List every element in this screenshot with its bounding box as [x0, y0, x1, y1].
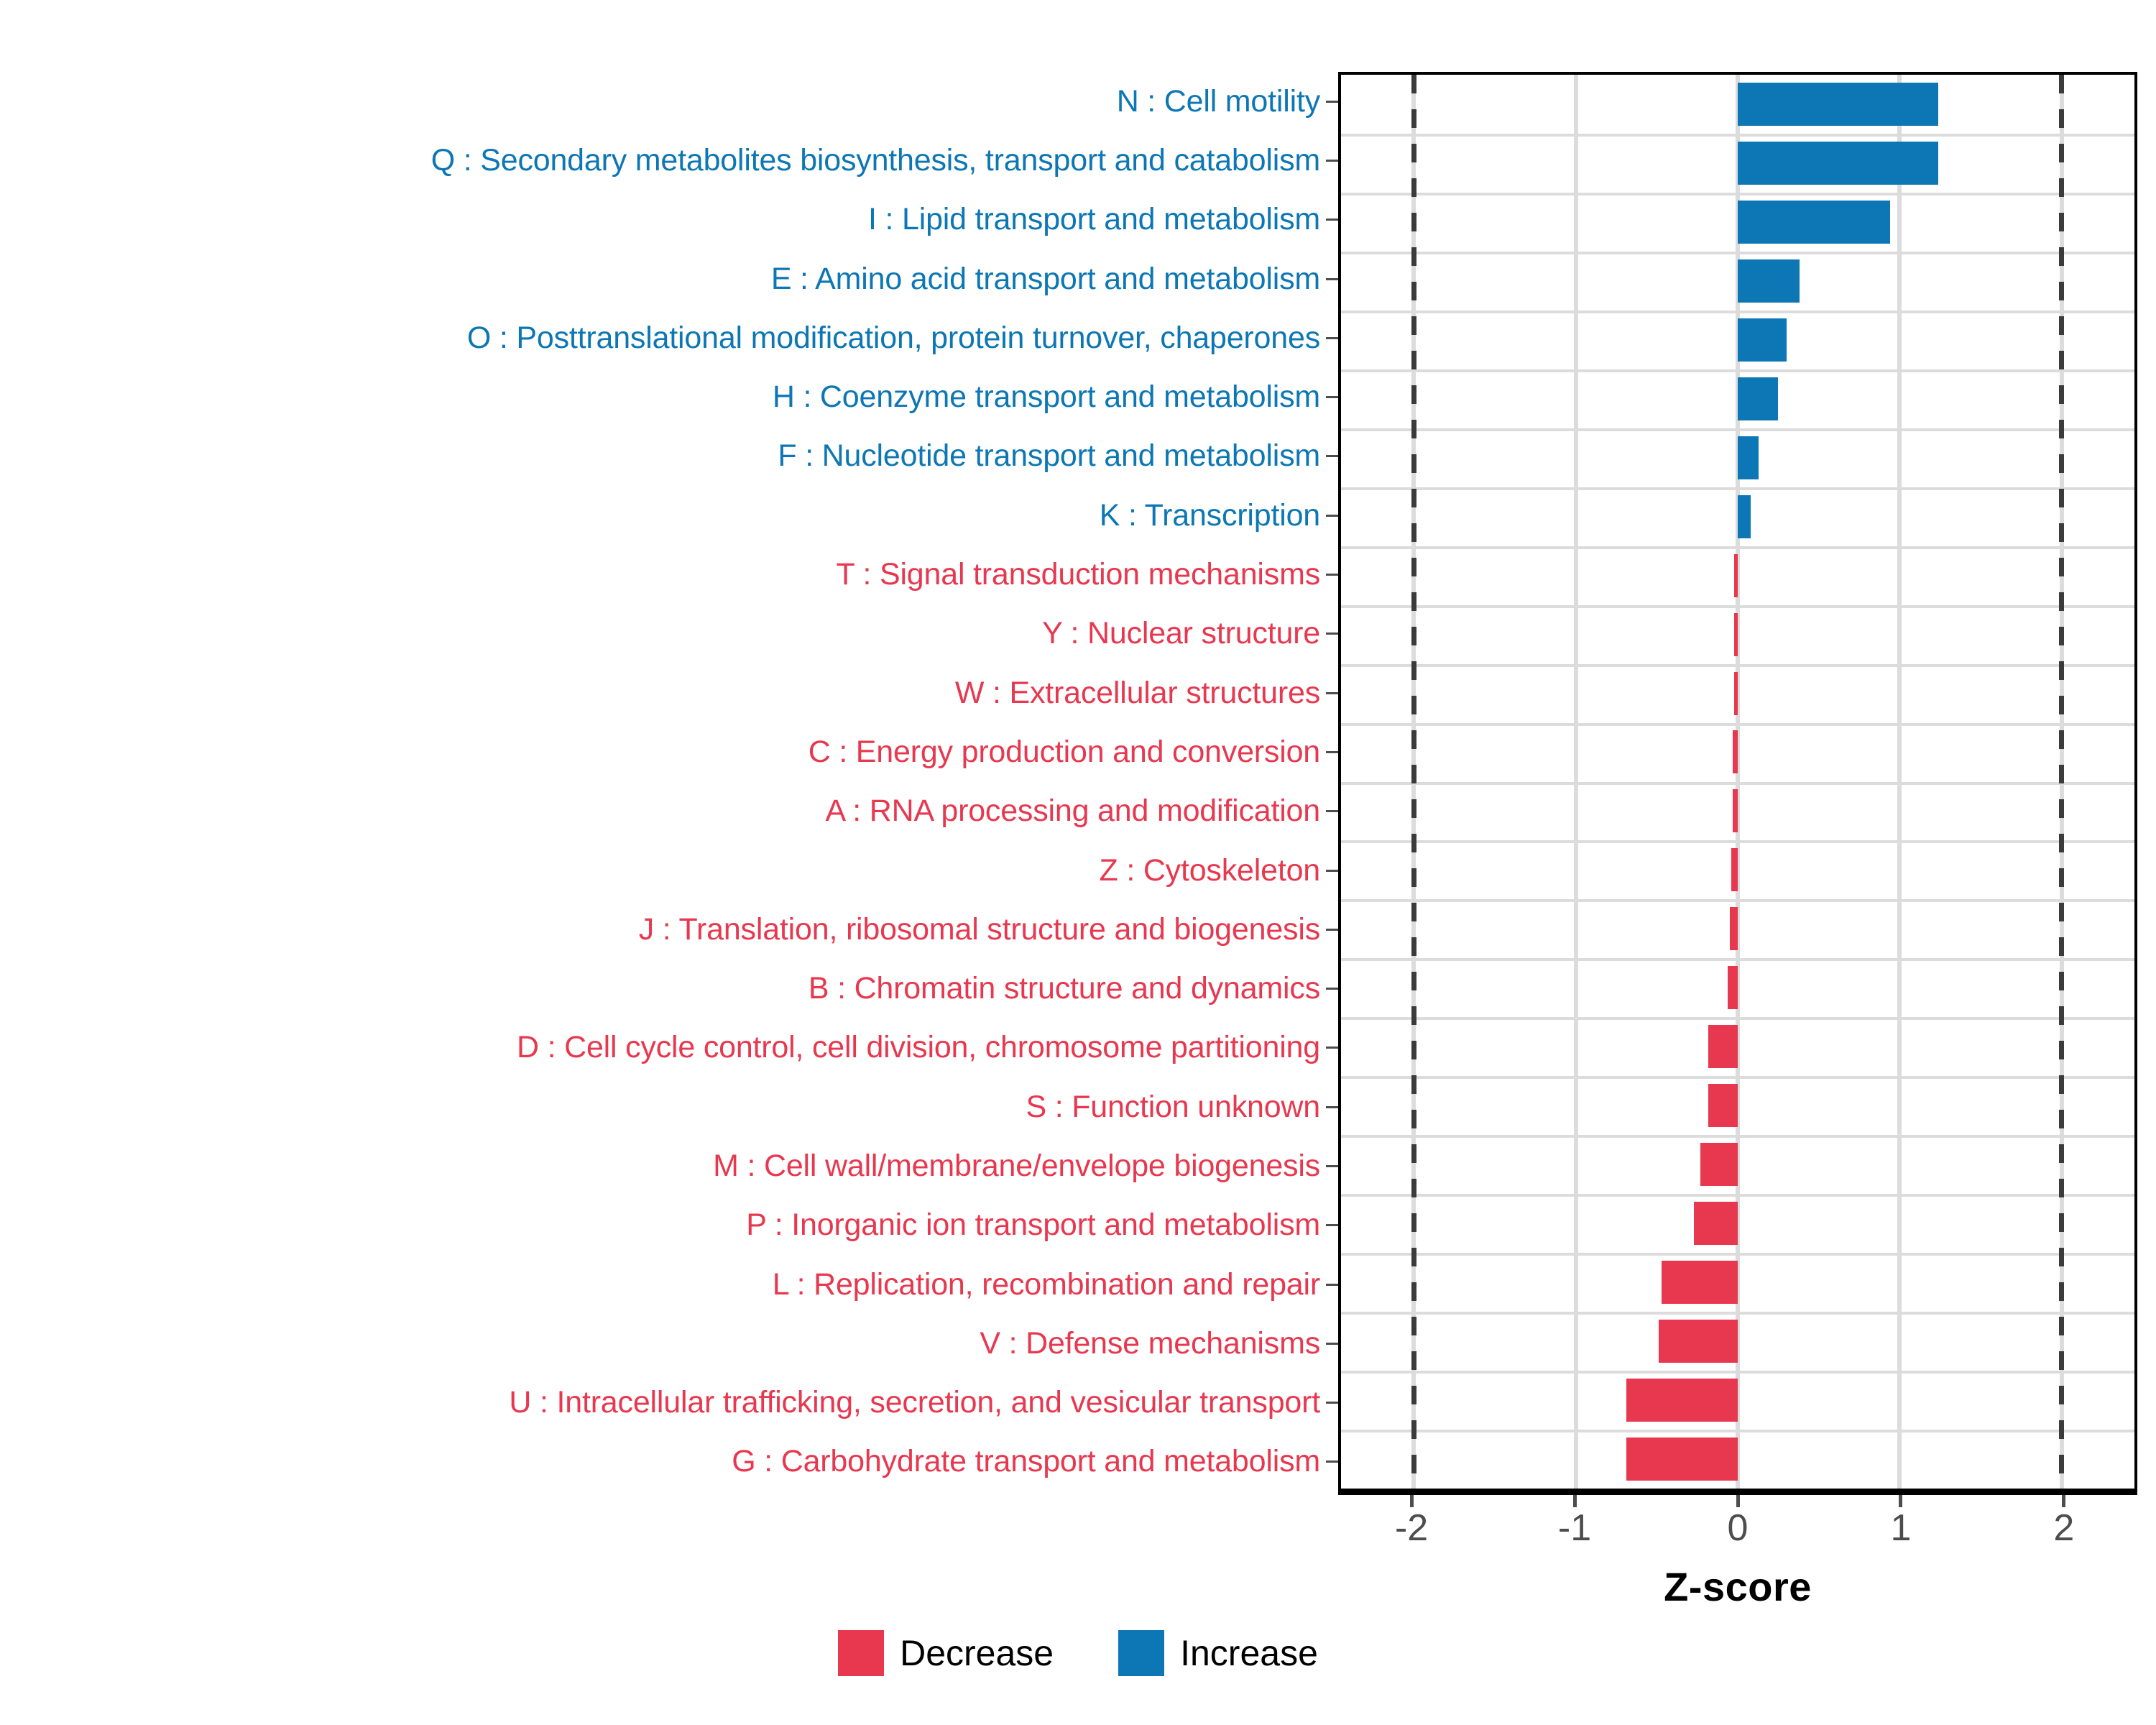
bar-row	[1341, 899, 2134, 958]
x-axis-tick-label: 2	[2053, 1509, 2074, 1547]
category-label-row: L : Replication, recombination and repai…	[0, 1255, 1326, 1314]
category-label-row: G : Carbohydrate transport and metabolis…	[0, 1432, 1326, 1491]
category-label: Z : Cytoskeleton	[1100, 855, 1320, 886]
category-tick-mark	[1326, 396, 1338, 398]
category-tick-row	[1326, 1077, 1338, 1136]
bar-row	[1341, 722, 2134, 781]
category-label-row: O : Posttranslational modification, prot…	[0, 308, 1326, 367]
bar	[1659, 1320, 1738, 1363]
category-label: K : Transcription	[1100, 500, 1320, 531]
bar	[1733, 730, 1738, 773]
category-label-row: N : Cell motility	[0, 72, 1326, 131]
bar	[1694, 1202, 1738, 1245]
category-label-row: Q : Secondary metabolites biosynthesis, …	[0, 131, 1326, 190]
legend-label: Increase	[1180, 1635, 1318, 1671]
category-tick-mark	[1326, 1106, 1338, 1108]
category-tick-mark	[1326, 870, 1338, 872]
category-label: H : Coenzyme transport and metabolism	[773, 382, 1320, 413]
bar-row	[1341, 1194, 2134, 1253]
category-label-row: B : Chromatin structure and dynamics	[0, 959, 1326, 1018]
category-tick-row	[1326, 1018, 1338, 1077]
x-axis-tick-mark	[1573, 1495, 1577, 1507]
category-tick-mark	[1326, 1224, 1338, 1226]
category-tick-row	[1326, 604, 1338, 663]
category-tick-row	[1326, 545, 1338, 604]
category-label-row: S : Function unknown	[0, 1077, 1326, 1136]
category-tick-mark	[1326, 751, 1338, 753]
chart-root: N : Cell motilityQ : Secondary metabolit…	[0, 0, 2156, 1725]
category-tick-row	[1326, 959, 1338, 1018]
category-label-row: V : Defense mechanisms	[0, 1314, 1326, 1373]
category-tick-mark	[1326, 1460, 1338, 1463]
x-axis-tick-mark	[1736, 1495, 1740, 1507]
category-tick-row	[1326, 190, 1338, 249]
bar	[1738, 83, 1938, 126]
bar	[1738, 259, 1800, 303]
category-label: Q : Secondary metabolites biosynthesis, …	[431, 145, 1320, 176]
bar	[1708, 1025, 1738, 1068]
category-tick-row	[1326, 1374, 1338, 1432]
category-tick-row	[1326, 367, 1338, 426]
bar-row	[1341, 487, 2134, 546]
category-label-row: U : Intracellular trafficking, secretion…	[0, 1374, 1326, 1432]
category-label-row: K : Transcription	[0, 486, 1326, 545]
bar-row	[1341, 134, 2134, 193]
category-label-row: D : Cell cycle control, cell division, c…	[0, 1018, 1326, 1077]
category-tick-row	[1326, 722, 1338, 781]
bar-row	[1341, 1076, 2134, 1135]
bar	[1738, 377, 1778, 420]
x-axis-tick-mark	[1899, 1495, 1902, 1507]
category-tick-row	[1326, 131, 1338, 190]
x-axis-tick-label: 1	[1890, 1509, 1911, 1547]
category-label-row: I : Lipid transport and metabolism	[0, 190, 1326, 249]
plot-panel	[1338, 72, 2137, 1491]
category-tick-row	[1326, 900, 1338, 959]
reference-line	[2059, 75, 2064, 1489]
category-tick-row	[1326, 308, 1338, 367]
category-label: L : Replication, recombination and repai…	[773, 1269, 1320, 1300]
category-label: Y : Nuclear structure	[1042, 618, 1320, 649]
category-tick-mark	[1326, 692, 1338, 694]
category-tick-mark	[1326, 1165, 1338, 1167]
bar-row	[1341, 781, 2134, 840]
category-tick-row	[1326, 1432, 1338, 1491]
bar-row	[1341, 252, 2134, 310]
chart-legend: DecreaseIncrease	[0, 1630, 2156, 1676]
category-tick-row	[1326, 1196, 1338, 1255]
x-axis-tick-mark	[2062, 1495, 2065, 1507]
category-label: E : Amino acid transport and metabolism	[771, 264, 1320, 295]
category-tick-row	[1326, 249, 1338, 308]
bar	[1730, 907, 1738, 950]
bar-row	[1341, 605, 2134, 664]
category-tick-mark	[1326, 337, 1338, 339]
category-label-row: Z : Cytoskeleton	[0, 841, 1326, 900]
category-tick-mark	[1326, 574, 1338, 576]
bar	[1738, 318, 1787, 362]
bar-row	[1341, 75, 2134, 134]
category-tick-mark	[1326, 1402, 1338, 1404]
bar-row	[1341, 840, 2134, 899]
bar-row	[1341, 1135, 2134, 1194]
category-label: T : Signal transduction mechanisms	[836, 559, 1320, 590]
legend-label: Decrease	[900, 1635, 1054, 1671]
bar-row	[1341, 369, 2134, 428]
bar-row	[1341, 664, 2134, 723]
category-label: B : Chromatin structure and dynamics	[808, 973, 1320, 1004]
category-tick-mark	[1326, 1284, 1338, 1286]
category-axis-ticks	[1326, 72, 1338, 1491]
category-label-row: E : Amino acid transport and metabolism	[0, 249, 1326, 308]
x-axis-tick-label: -1	[1558, 1509, 1591, 1547]
bar	[1734, 672, 1738, 715]
category-tick-row	[1326, 72, 1338, 131]
category-label: P : Inorganic ion transport and metaboli…	[746, 1210, 1320, 1241]
legend-item-decrease[interactable]: Decrease	[838, 1630, 1054, 1676]
bar	[1626, 1437, 1738, 1481]
category-tick-mark	[1326, 632, 1338, 635]
bar	[1734, 554, 1738, 597]
category-label: N : Cell motility	[1117, 86, 1320, 117]
category-label-row: J : Translation, ribosomal structure and…	[0, 900, 1326, 959]
category-tick-row	[1326, 486, 1338, 545]
category-tick-mark	[1326, 810, 1338, 812]
category-tick-mark	[1326, 455, 1338, 457]
bar	[1700, 1143, 1738, 1186]
category-label-row: C : Energy production and conversion	[0, 722, 1326, 781]
bar-row	[1341, 310, 2134, 369]
category-label: O : Posttranslational modification, prot…	[467, 323, 1320, 354]
category-tick-row	[1326, 427, 1338, 486]
bar	[1738, 201, 1890, 244]
x-axis-tick-mark	[1410, 1495, 1414, 1507]
bar	[1738, 495, 1751, 538]
bar-row	[1341, 428, 2134, 487]
category-label: C : Energy production and conversion	[808, 737, 1320, 768]
category-tick-mark	[1326, 1343, 1338, 1345]
legend-item-increase[interactable]: Increase	[1118, 1630, 1318, 1676]
category-label-row: H : Coenzyme transport and metabolism	[0, 367, 1326, 426]
legend-swatch-increase	[1118, 1630, 1164, 1676]
category-label: F : Nucleotide transport and metabolism	[778, 441, 1320, 471]
category-tick-mark	[1326, 218, 1338, 221]
category-label: U : Intracellular trafficking, secretion…	[509, 1387, 1320, 1418]
bar-row	[1341, 1371, 2134, 1430]
bar-row	[1341, 546, 2134, 605]
bar	[1728, 966, 1738, 1009]
legend-swatch-decrease	[838, 1630, 884, 1676]
category-label-row: M : Cell wall/membrane/envelope biogenes…	[0, 1136, 1326, 1195]
x-axis-tick-label: -2	[1395, 1509, 1428, 1547]
bar	[1733, 789, 1738, 832]
category-tick-mark	[1326, 1046, 1338, 1049]
category-axis-labels: N : Cell motilityQ : Secondary metabolit…	[0, 72, 1326, 1491]
category-label: J : Translation, ribosomal structure and…	[639, 914, 1320, 945]
category-tick-row	[1326, 841, 1338, 900]
bar-row	[1341, 958, 2134, 1017]
category-label: A : RNA processing and modification	[825, 796, 1320, 827]
bar	[1731, 848, 1738, 891]
bar-row	[1341, 1430, 2134, 1489]
bar	[1738, 142, 1938, 185]
category-tick-mark	[1326, 101, 1338, 103]
category-label: W : Extracellular structures	[955, 678, 1320, 709]
bar-row	[1341, 1017, 2134, 1076]
category-tick-mark	[1326, 929, 1338, 931]
bar-row	[1341, 1312, 2134, 1371]
bar	[1626, 1379, 1738, 1422]
category-label: G : Carbohydrate transport and metabolis…	[732, 1446, 1320, 1477]
category-tick-row	[1326, 663, 1338, 722]
category-label-row: T : Signal transduction mechanisms	[0, 545, 1326, 604]
bar	[1708, 1084, 1738, 1127]
bar-series	[1341, 75, 2134, 1489]
category-label-row: P : Inorganic ion transport and metaboli…	[0, 1196, 1326, 1255]
bar-row	[1341, 193, 2134, 252]
category-tick-mark	[1326, 988, 1338, 990]
category-label-row: W : Extracellular structures	[0, 663, 1326, 722]
reference-line	[1411, 75, 1416, 1489]
category-label-row: Y : Nuclear structure	[0, 604, 1326, 663]
bar	[1662, 1261, 1738, 1304]
bar-row	[1341, 1253, 2134, 1312]
category-label: D : Cell cycle control, cell division, c…	[517, 1032, 1320, 1063]
category-tick-mark	[1326, 278, 1338, 280]
category-tick-mark	[1326, 160, 1338, 162]
category-tick-row	[1326, 1255, 1338, 1314]
category-tick-mark	[1326, 515, 1338, 517]
category-label: M : Cell wall/membrane/envelope biogenes…	[713, 1151, 1320, 1182]
x-axis-title: Z-score	[1338, 1563, 2137, 1610]
category-label: S : Function unknown	[1026, 1092, 1320, 1123]
plot-inner	[1341, 75, 2134, 1489]
category-tick-row	[1326, 1314, 1338, 1373]
category-tick-row	[1326, 1136, 1338, 1195]
bar	[1734, 613, 1738, 656]
category-tick-row	[1326, 782, 1338, 841]
x-axis-tick-label: 0	[1728, 1509, 1749, 1547]
category-label: V : Defense mechanisms	[980, 1328, 1320, 1359]
category-label-row: A : RNA processing and modification	[0, 782, 1326, 841]
category-label-row: F : Nucleotide transport and metabolism	[0, 427, 1326, 486]
bar	[1738, 436, 1759, 479]
category-label: I : Lipid transport and metabolism	[868, 204, 1320, 235]
